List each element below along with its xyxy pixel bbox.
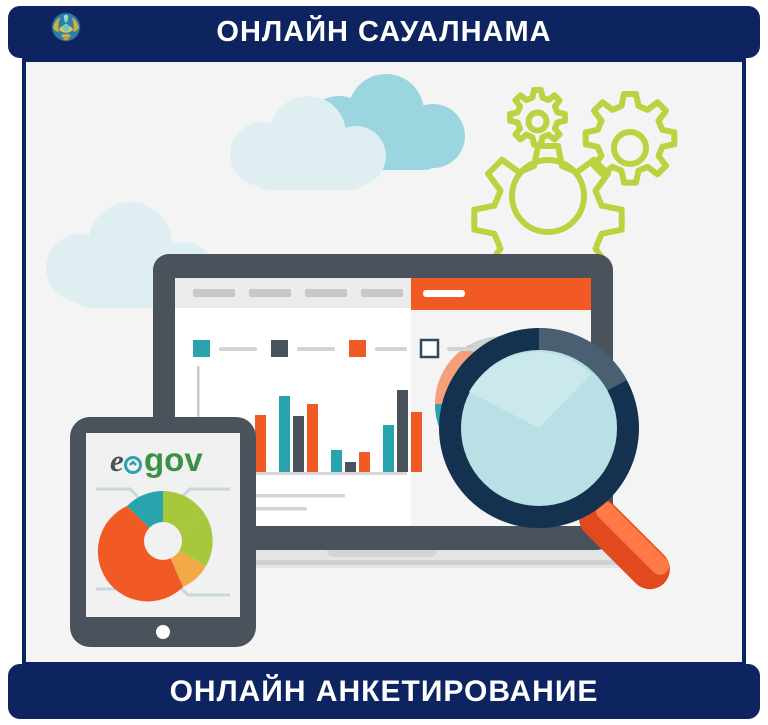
poster: ОНЛАЙН САУАЛНАМА [0, 0, 768, 725]
cloud-mid-pale-icon [204, 92, 419, 204]
legend-swatch-navy [271, 340, 288, 357]
bottom-banner: ОНЛАЙН АНКЕТИРОВАНИЕ [8, 664, 760, 719]
bar-g2-teal [279, 396, 290, 472]
top-banner-title: ОНЛАЙН САУАЛНАМА [216, 16, 551, 49]
bar-g1-orange [255, 415, 266, 472]
tablet-home-button [156, 625, 170, 639]
legend-swatch-teal [193, 340, 210, 357]
gear-medium-icon [586, 94, 675, 183]
bottom-banner-title: ОНЛАЙН АНКЕТИРОВАНИЕ [170, 675, 599, 709]
bar-g4-teal [383, 425, 394, 472]
gear-small-icon [510, 90, 565, 145]
bar-g2-navy [293, 416, 304, 472]
bar-g4-orange [411, 412, 422, 472]
bar-g4-navy [397, 390, 408, 472]
legend-swatch-orange [349, 340, 366, 357]
tablet-logo-gov: gov [144, 441, 203, 478]
bar-g3-teal [331, 450, 342, 472]
bar-g2-orange [307, 404, 318, 472]
illustration-frame: e gov [22, 58, 746, 666]
bar-g3-navy [345, 462, 356, 472]
top-banner: ОНЛАЙН САУАЛНАМА [8, 6, 760, 58]
tablet-illustration: e gov [70, 417, 256, 647]
orange-header-accent-line [423, 290, 465, 297]
bar-g3-orange [359, 452, 370, 472]
laptop-base-notch [327, 550, 437, 557]
tablet-logo-e: e [110, 443, 124, 478]
kazakhstan-coat-of-arms-icon [48, 9, 84, 45]
magnifier-icon [431, 322, 711, 602]
illustration-canvas: e gov [26, 62, 742, 662]
